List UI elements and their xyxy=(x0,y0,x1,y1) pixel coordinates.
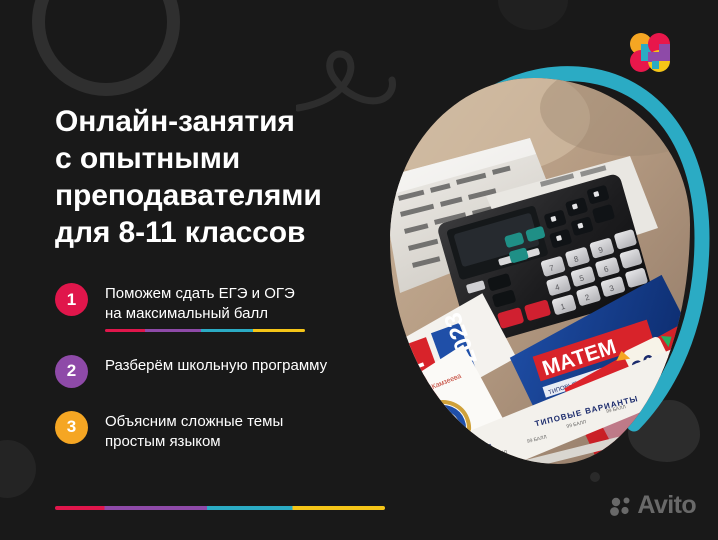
hero-photo: 789 456 123 Е 2023 ФИЗИК xyxy=(372,62,710,482)
avito-wordmark: Avito xyxy=(637,493,696,518)
feature-body: Объясним сложные темы простым языком xyxy=(105,410,283,452)
feature-body: Разберём школьную программу xyxy=(105,354,327,376)
calculator-and-textbooks-photo: 789 456 123 Е 2023 ФИЗИК xyxy=(390,78,690,464)
feature-number-badge: 1 xyxy=(55,283,88,316)
feature-text: Объясним сложные темы простым языком xyxy=(105,412,283,452)
list-item: 2 Разберём школьную программу xyxy=(55,354,375,388)
feature-text: Поможем сдать ЕГЭ и ОГЭ на максимальный … xyxy=(105,284,305,324)
decorative-blob-bottom-left xyxy=(0,440,36,498)
list-item: 1 Поможем сдать ЕГЭ и ОГЭ на максимальны… xyxy=(55,282,375,332)
decorative-ring xyxy=(32,0,180,96)
feature-body: Поможем сдать ЕГЭ и ОГЭ на максимальный … xyxy=(105,282,305,332)
feature-number-badge: 2 xyxy=(55,355,88,388)
avito-watermark: Avito xyxy=(610,493,696,518)
feature-list: 1 Поможем сдать ЕГЭ и ОГЭ на максимальны… xyxy=(55,282,375,452)
list-item: 3 Объясним сложные темы простым языком xyxy=(55,410,375,452)
brand-logo-icon xyxy=(628,32,678,74)
decorative-blob-top-right xyxy=(498,0,568,30)
accent-gradient-bar xyxy=(55,506,385,510)
photo-blob-mask: 789 456 123 Е 2023 ФИЗИК xyxy=(390,78,690,464)
feature-accent-underline xyxy=(105,329,305,332)
page-title: Онлайн-занятия с опытными преподавателям… xyxy=(55,104,365,252)
advertisement-canvas: 789 456 123 Е 2023 ФИЗИК xyxy=(0,0,718,540)
avito-dots-logo-icon xyxy=(610,496,632,516)
feature-text: Разберём школьную программу xyxy=(105,356,327,376)
feature-number-badge: 3 xyxy=(55,411,88,444)
